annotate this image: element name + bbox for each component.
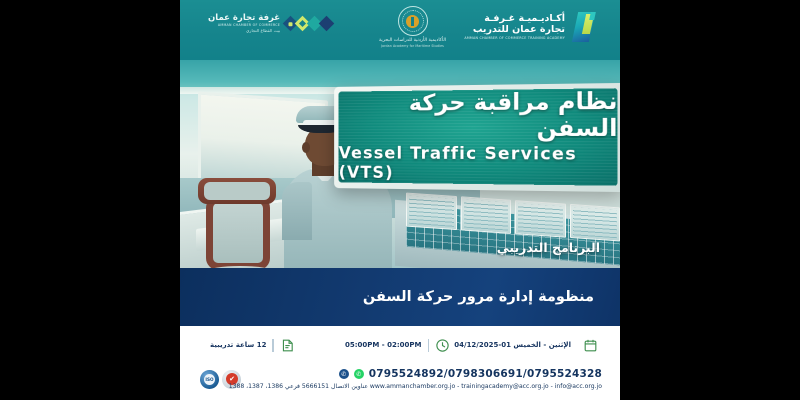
poster-canvas: غرفة تجارة عمان AMMAN CHAMBER OF COMMERC… bbox=[180, 0, 620, 400]
info-item-hours: 12 ساعة تدريبية bbox=[180, 338, 325, 353]
officer-shoulder bbox=[282, 182, 312, 240]
info-item-date: الإثنين - الخميس 01-04/12/2025 bbox=[470, 338, 620, 353]
officer-ear bbox=[302, 142, 310, 153]
document-icon bbox=[280, 338, 295, 353]
course-info-strip: الإثنين - الخميس 01-04/12/2025 05:00PM -… bbox=[180, 326, 620, 364]
training-program-label: البرنامج التدريبي bbox=[483, 238, 614, 257]
jams-seal-icon bbox=[398, 6, 428, 36]
vts-title-sign: نظام مراقبة حركة السفن Vessel Traffic Se… bbox=[328, 85, 620, 190]
iso-certification-badge-icon bbox=[200, 370, 219, 389]
academy-name-ar-line1: أكـاديـميـة غـرفـة bbox=[464, 13, 565, 24]
sign-screen: نظام مراقبة حركة السفن Vessel Traffic Se… bbox=[339, 88, 618, 186]
academy-name-en: AMMAN CHAMBER OF COMMERCE TRAINING ACADE… bbox=[464, 37, 565, 41]
footer-bar: 0795524892/0798306691/0795524328 ✆ ✆ www… bbox=[180, 364, 620, 400]
acc-logo-mark-icon bbox=[285, 18, 332, 29]
acc-logo-name-ar: غرفة تجارة عمان bbox=[208, 14, 280, 23]
letterbox-left bbox=[0, 0, 180, 400]
academy-name-ar-line2: تجارة عمان للتدريب bbox=[464, 24, 565, 35]
jams-name-en: Jordan Academy for Maritime Studies bbox=[365, 44, 460, 48]
info-time-text: 05:00PM - 02:00PM bbox=[345, 341, 422, 349]
info-date-text: الإثنين - الخميس 01-04/12/2025 bbox=[454, 341, 571, 349]
monitor-1 bbox=[406, 193, 457, 231]
sign-title-ar: نظام مراقبة حركة السفن bbox=[339, 88, 618, 142]
clock-icon bbox=[435, 338, 450, 353]
course-title-band: منظومة إدارة مرور حركة السفن bbox=[180, 268, 620, 326]
letterbox-right bbox=[620, 0, 800, 400]
jams-name-ar: الأكاديمية الأردنية للدراسات البحرية bbox=[365, 38, 460, 43]
bridge-chair bbox=[198, 178, 282, 274]
contact-details-line: www.ammanchamber.org.jo - trainingacadem… bbox=[242, 383, 602, 390]
poster-stage: غرفة تجارة عمان AMMAN CHAMBER OF COMMERC… bbox=[0, 0, 800, 400]
sign-title-en: Vessel Traffic Services (VTS) bbox=[339, 144, 618, 186]
info-separator-3 bbox=[272, 339, 274, 352]
monitor-2 bbox=[461, 196, 512, 234]
header-bar: غرفة تجارة عمان AMMAN CHAMBER OF COMMERC… bbox=[180, 0, 620, 60]
acc-diamond-3-icon bbox=[319, 16, 335, 32]
logo-jordan-academy-maritime-studies: الأكاديمية الأردنية للدراسات البحرية Jor… bbox=[365, 6, 460, 48]
monitor-4 bbox=[570, 204, 621, 242]
logo-acc-training-academy: أكـاديـميـة غـرفـة تجارة عمان للتدريب AM… bbox=[464, 10, 598, 44]
academy-logo-mark-icon bbox=[572, 10, 598, 44]
course-title-text: منظومة إدارة مرور حركة السفن bbox=[363, 289, 620, 305]
info-separator-2 bbox=[428, 339, 430, 352]
logo-amman-chamber-of-commerce: غرفة تجارة عمان AMMAN CHAMBER OF COMMERC… bbox=[208, 14, 332, 34]
contact-web-emails[interactable]: www.ammanchamber.org.jo - trainingacadem… bbox=[370, 383, 602, 390]
acc-logo-name-en: AMMAN CHAMBER OF COMMERCE bbox=[208, 24, 280, 27]
phone-numbers: 0795524892/0798306691/0795524328 bbox=[369, 368, 602, 380]
info-item-time: 05:00PM - 02:00PM bbox=[325, 338, 470, 353]
calendar-icon bbox=[583, 338, 598, 353]
whatsapp-icon[interactable]: ✆ bbox=[354, 369, 364, 379]
monitor-3 bbox=[515, 200, 566, 238]
contact-phone-ext: عناوين الاتصال 5666151 فرعي 1386، 1387، … bbox=[229, 383, 368, 390]
acc-logo-tagline: بيت القطاع التجاري bbox=[208, 29, 280, 33]
telephone-icon[interactable]: ✆ bbox=[339, 369, 349, 379]
info-hours-text: 12 ساعة تدريبية bbox=[210, 341, 266, 349]
contact-phone-row: 0795524892/0798306691/0795524328 ✆ ✆ bbox=[339, 368, 602, 380]
